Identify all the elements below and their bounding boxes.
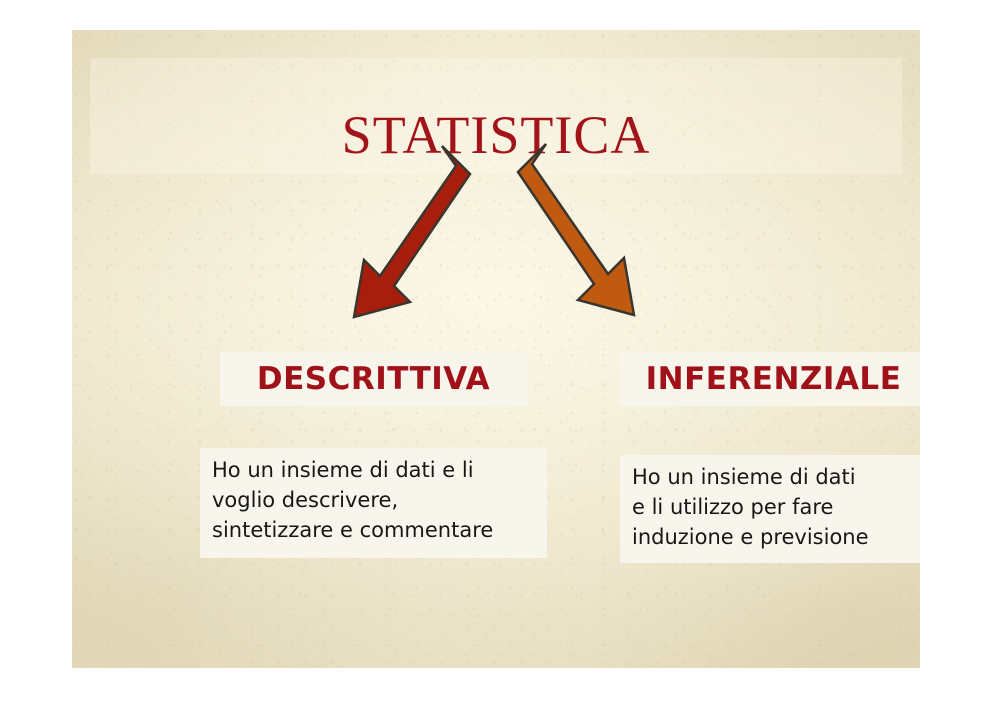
body-text-descrittiva: Ho un insieme di dati e li voglio descri… [212, 455, 493, 545]
heading-box-descrittiva: DESCRITTIVA [220, 352, 527, 406]
heading-label-descrittiva: DESCRITTIVA [257, 361, 490, 397]
body-text-inferenziale: Ho un insieme di dati e li utilizzo per … [632, 462, 869, 552]
body-box-descrittiva: Ho un insieme di dati e li voglio descri… [200, 448, 547, 558]
slide-canvas: STATISTICA DESCRITTIVA INFERENZIALE Ho u… [0, 0, 992, 701]
heading-label-inferenziale: INFERENZIALE [646, 361, 902, 397]
body-box-inferenziale: Ho un insieme di dati e li utilizzo per … [620, 455, 920, 563]
heading-box-inferenziale: INFERENZIALE [620, 352, 920, 406]
presentation-slide: STATISTICA DESCRITTIVA INFERENZIALE Ho u… [72, 30, 920, 668]
page-title: STATISTICA [72, 108, 920, 162]
arrow-down-right-icon [512, 138, 642, 323]
arrow-down-left-icon [346, 140, 476, 325]
